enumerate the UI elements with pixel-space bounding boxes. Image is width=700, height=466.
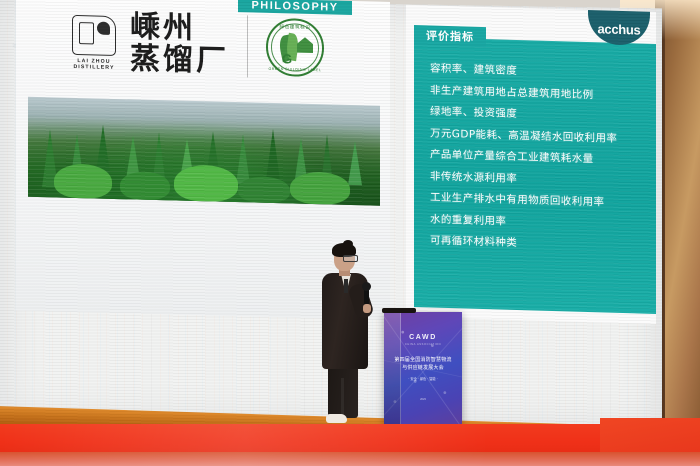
lai-zhou-distillery-mark: LAI ZHOU DISTILLERY <box>68 15 120 71</box>
gbl-en-text: GREEN BUILDING LABEL <box>268 67 322 72</box>
acchus-logo: acchus <box>588 5 650 46</box>
acchus-logo-text: acchus <box>597 21 640 37</box>
podium-logo: CAWD <box>384 334 462 341</box>
speaker-tie <box>344 279 348 293</box>
brand-cn-line2: 蒸馏厂 <box>130 44 229 79</box>
list-item: 水的重复利用率 <box>430 214 656 231</box>
brand-name-line2: DISTILLERY <box>68 64 120 71</box>
green-building-label-icon: 绿色建筑标识 G GREEN BUILDING LABEL <box>266 18 324 77</box>
brand-name-chinese: 嵊州 蒸馏厂 <box>130 11 229 78</box>
podium-logo-sub: CHINA ASSOCIATION <box>384 343 462 346</box>
brand-cn-line1: 嵊州 <box>130 11 229 46</box>
speaker-leg-gap <box>341 378 344 418</box>
podium-conference-line1: 第四届全国消防智慧物流 <box>384 356 462 363</box>
logo-divider <box>247 16 248 78</box>
podium-conference-line4: 2023 <box>384 398 462 401</box>
evaluation-panel: 容积率、建筑密度 非生产建筑用地占总建筑用地比例 绿地率、投资强度 万元GDP能… <box>414 37 656 314</box>
speaker-shoe <box>326 414 347 423</box>
stage-front-edge <box>0 452 700 466</box>
glasses-icon <box>343 255 358 262</box>
podium-top-edge <box>382 308 416 313</box>
forest-photo <box>28 97 380 206</box>
led-scanlines-photo <box>28 97 380 206</box>
list-item: 万元GDP能耗、高温凝结水回收利用率 <box>430 128 656 145</box>
list-item: 产品单位产量综合工业建筑耗水量 <box>430 149 656 166</box>
list-item: 绿地率、投资强度 <box>430 106 656 123</box>
list-item: 可再循环材料种类 <box>430 235 656 252</box>
list-item: 非生产建筑用地占总建筑用地比例 <box>430 85 656 102</box>
list-item: 容积率、建筑密度 <box>430 63 656 80</box>
speaker-hair-top <box>343 240 353 248</box>
podium-conference-line3: · 安全 · 绿色 · 智能 · <box>384 376 462 381</box>
podium-lectern: CAWD CHINA ASSOCIATION 第四届全国消防智慧物流 与供应链发… <box>384 312 462 424</box>
evaluation-indicator-list: 容积率、建筑密度 非生产建筑用地占总建筑用地比例 绿地率、投资强度 万元GDP能… <box>414 37 656 252</box>
microphone-head-icon <box>362 282 371 291</box>
distillery-still-icon <box>72 15 116 56</box>
list-item: 非传统水源利用率 <box>430 171 656 188</box>
speaker-person <box>316 246 376 426</box>
podium-conference-line2: 与供应链发展大会 <box>384 364 462 371</box>
speaker-hand <box>363 304 371 313</box>
list-item: 工业生产排水中有用物质回收利用率 <box>430 192 656 209</box>
evaluation-title: 评价指标 <box>414 25 486 47</box>
brand-logo-row: LAI ZHOU DISTILLERY 嵊州 蒸馏厂 绿色建筑标识 G GREE… <box>68 10 324 81</box>
slide-right-evaluation: 容积率、建筑密度 非生产建筑用地占总建筑用地比例 绿地率、投资强度 万元GDP能… <box>406 5 656 324</box>
acchus-dots-icon <box>580 5 583 9</box>
gbl-letter: G <box>282 52 292 67</box>
philosophy-banner: PHILOSOPHY <box>238 0 352 15</box>
screenshot-root: CAWD CONFERENCE 第四届全国消防智慧物流 与供应链发展大会 · 安… <box>0 0 700 466</box>
